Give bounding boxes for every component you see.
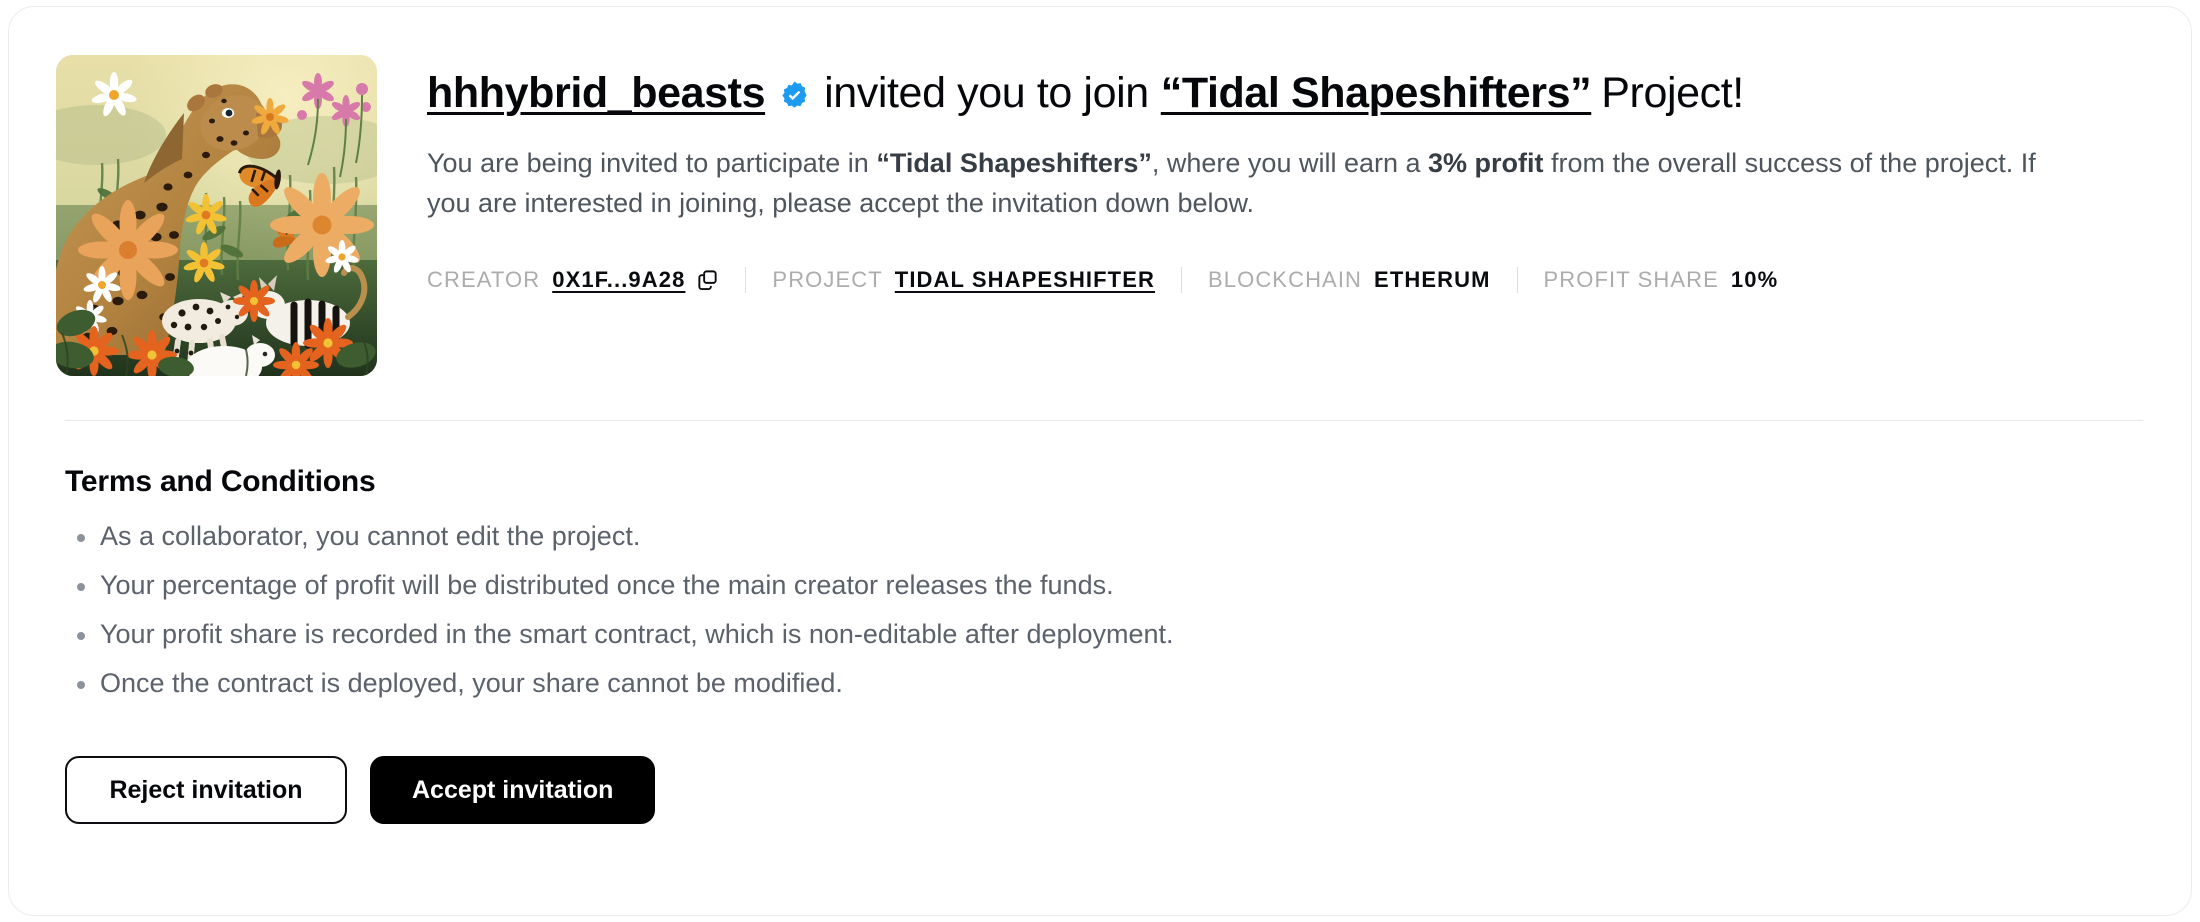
project-name-link[interactable]: “Tidal Shapeshifters” xyxy=(1161,69,1591,118)
invitation-title: hhhybrid_beasts invited you to join “Tid… xyxy=(427,69,2191,118)
description-part-1: You are being invited to participate in xyxy=(427,148,876,178)
inviter-name-link[interactable]: hhhybrid_beasts xyxy=(427,69,765,118)
accept-invitation-button[interactable]: Accept invitation xyxy=(370,756,655,824)
description-project-name: “Tidal Shapeshifters” xyxy=(876,148,1152,178)
description-part-2: , where you will earn a xyxy=(1152,148,1428,178)
project-artwork-image xyxy=(56,55,377,376)
meta-value-creator-address[interactable]: 0X1F...9A28 xyxy=(552,267,685,293)
list-item: As a collaborator, you cannot edit the p… xyxy=(65,523,2191,550)
copy-icon[interactable] xyxy=(696,268,719,291)
verified-badge-icon xyxy=(779,80,810,111)
list-item: Your profit share is recorded in the sma… xyxy=(65,621,2191,648)
meta-separator xyxy=(1517,267,1518,293)
meta-separator xyxy=(745,267,746,293)
meta-label-creator: CREATOR xyxy=(427,267,540,293)
list-item: Once the contract is deployed, your shar… xyxy=(65,670,2191,697)
meta-value-blockchain: ETHERUM xyxy=(1374,267,1490,293)
project-meta-row: CREATOR 0X1F...9A28 PROJECT TIDAL SHAPES… xyxy=(427,267,2191,293)
reject-invitation-button[interactable]: Reject invitation xyxy=(65,756,347,824)
invitation-actions: Reject invitation Accept invitation xyxy=(9,719,2191,824)
list-item: Your percentage of profit will be distri… xyxy=(65,572,2191,599)
terms-heading: Terms and Conditions xyxy=(65,465,2191,499)
meta-label-blockchain: BLOCKCHAIN xyxy=(1208,267,1362,293)
invitation-header: hhhybrid_beasts invited you to join “Tid… xyxy=(9,7,2191,376)
meta-label-project: PROJECT xyxy=(772,267,882,293)
project-thumbnail xyxy=(56,55,377,376)
meta-label-profit-share: PROFIT SHARE xyxy=(1544,267,1719,293)
terms-list: As a collaborator, you cannot edit the p… xyxy=(65,523,2191,697)
invitation-card: hhhybrid_beasts invited you to join “Tid… xyxy=(8,6,2192,916)
invitation-header-text: hhhybrid_beasts invited you to join “Tid… xyxy=(377,55,2191,293)
meta-separator xyxy=(1181,267,1182,293)
invite-title-end: Project! xyxy=(1601,69,1744,118)
invite-title-middle: invited you to join xyxy=(824,69,1149,118)
meta-value-profit-share: 10% xyxy=(1731,267,1778,293)
terms-and-conditions-section: Terms and Conditions As a collaborator, … xyxy=(9,421,2191,697)
meta-value-project[interactable]: TIDAL SHAPESHIFTER xyxy=(895,267,1155,293)
description-profit-share: 3% profit xyxy=(1428,148,1544,178)
invitation-description: You are being invited to participate in … xyxy=(427,144,2067,224)
